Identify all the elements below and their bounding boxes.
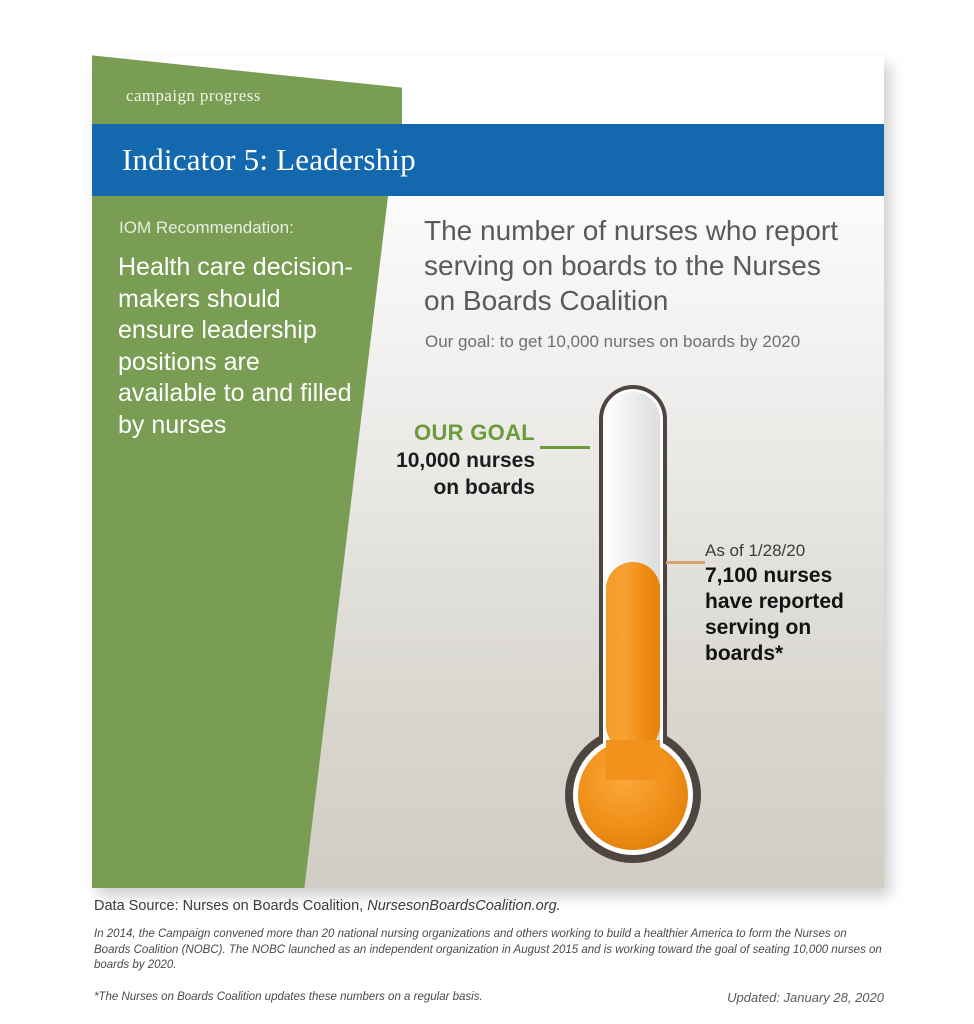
data-source-prefix: Data Source: Nurses on Boards Coalition, — [94, 898, 367, 914]
thermometer-chart — [548, 380, 718, 880]
page-title: Indicator 5: Leadership — [122, 142, 416, 178]
goal-connector-line — [540, 446, 590, 449]
current-callout-line1: 7,100 nurses — [705, 563, 880, 588]
thermometer-bulb-neck — [606, 740, 660, 780]
goal-callout: OUR GOAL 10,000 nurses on boards — [300, 420, 535, 500]
headline: The number of nurses who report serving … — [424, 213, 854, 318]
updated-date: Updated: January 28, 2020 — [727, 990, 884, 1005]
footer: Data Source: Nurses on Boards Coalition,… — [94, 898, 884, 1005]
subheadline: Our goal: to get 10,000 nurses on boards… — [425, 332, 855, 352]
footer-note: In 2014, the Campaign convened more than… — [94, 927, 884, 974]
goal-callout-line2: on boards — [300, 475, 535, 500]
data-source-line: Data Source: Nurses on Boards Coalition,… — [94, 898, 884, 914]
goal-callout-title: OUR GOAL — [300, 420, 535, 446]
current-callout-line4: boards* — [705, 641, 880, 666]
current-callout-line3: serving on — [705, 615, 880, 640]
current-connector-line — [666, 561, 705, 564]
current-callout-line2: have reported — [705, 589, 880, 614]
iom-recommendation-label: IOM Recommendation: — [119, 218, 294, 238]
infographic-root: campaign progress Indicator 5: Leadershi… — [0, 0, 974, 1024]
campaign-progress-label: campaign progress — [126, 86, 261, 106]
current-callout-asof: As of 1/28/20 — [705, 540, 880, 562]
data-source-site[interactable]: NursesonBoardsCoalition.org. — [367, 898, 560, 914]
iom-recommendation-text: Health care decision-makers should ensur… — [118, 252, 358, 441]
goal-callout-line1: 10,000 nurses — [300, 448, 535, 473]
current-callout: As of 1/28/20 7,100 nurses have reported… — [705, 540, 880, 666]
